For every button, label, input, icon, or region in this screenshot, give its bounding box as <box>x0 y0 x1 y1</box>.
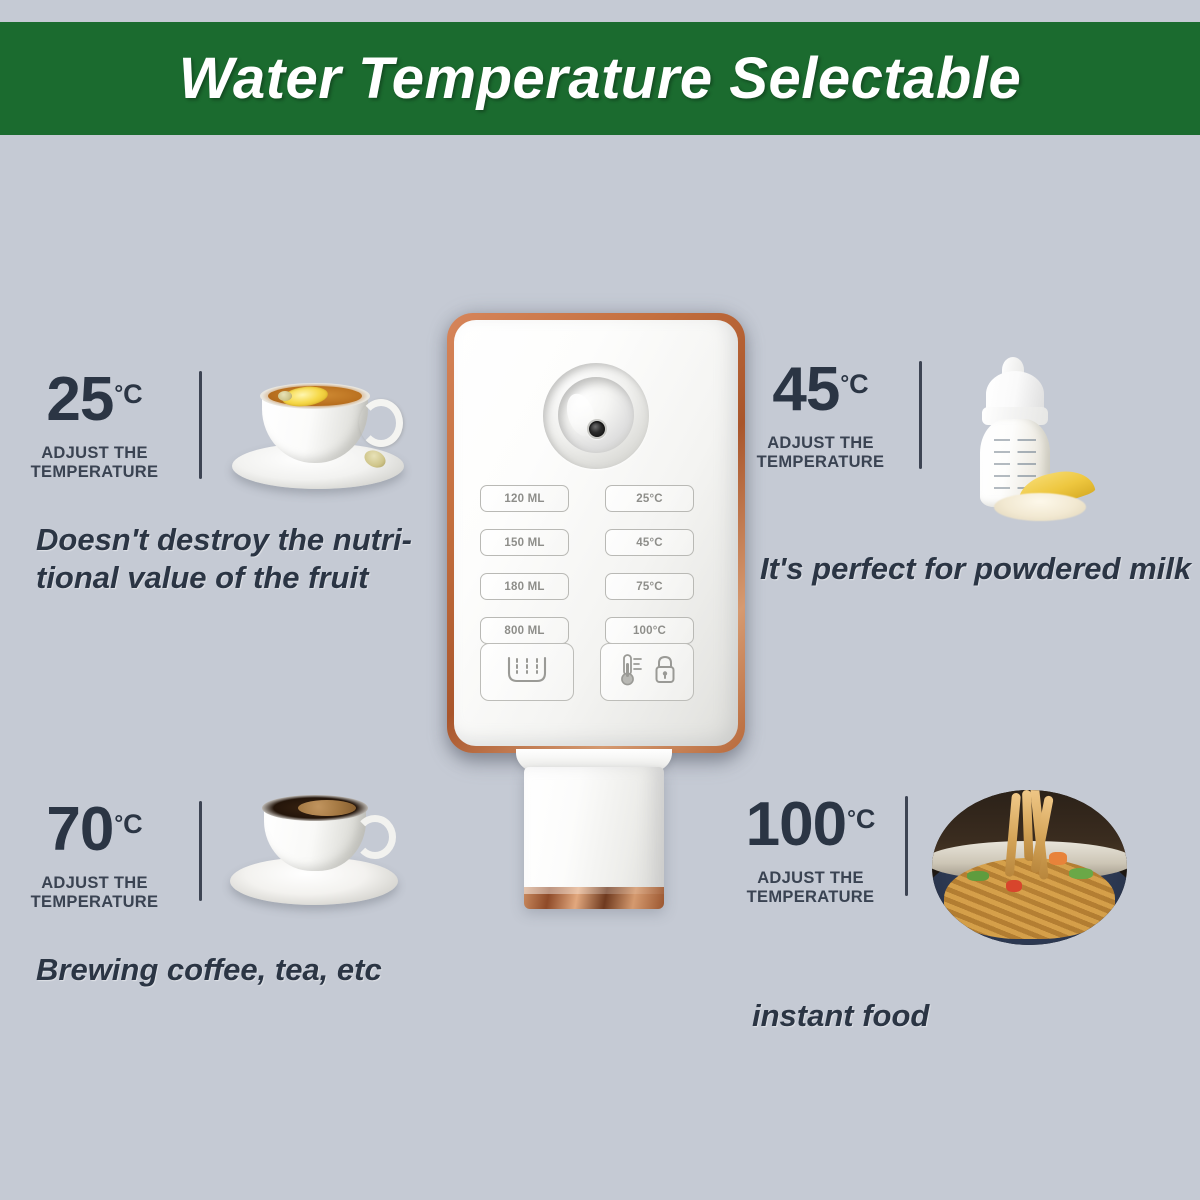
temperature-column: 25°C ADJUST THE TEMPERATURE <box>22 365 167 483</box>
feature-caption: It's perfect for powdered milk <box>760 550 1200 588</box>
temperature-unit: °C <box>840 369 868 399</box>
water-dispenser-control-panel: 120 ML 25°C 150 ML 45°C 180 ML 75°C 800 … <box>440 305 750 925</box>
temperature-button-25c[interactable]: 25°C <box>605 485 694 512</box>
temperature-value: 45°C <box>748 361 893 420</box>
temperature-number: 45 <box>772 355 839 424</box>
funnel-inner-cone <box>558 377 634 453</box>
teacup-with-lemon-photo <box>226 365 416 495</box>
chili-shape <box>1006 880 1022 892</box>
dried-flower-shape <box>278 391 292 401</box>
adjust-temperature-label: ADJUST THE TEMPERATURE <box>22 444 167 483</box>
volume-button-150ml[interactable]: 150 ML <box>480 529 569 556</box>
temperature-column: 100°C ADJUST THE TEMPERATURE <box>738 790 883 908</box>
vertical-divider <box>905 796 908 896</box>
thermometer-icon <box>618 653 644 692</box>
lock-icon <box>653 654 677 691</box>
adjust-temperature-label: ADJUST THE TEMPERATURE <box>738 869 883 908</box>
temperature-unit: °C <box>847 804 875 834</box>
feature-row: 100°C ADJUST THE TEMPERATURE <box>738 790 1200 945</box>
water-outlet-spout <box>524 767 664 907</box>
vertical-divider <box>199 371 202 479</box>
volume-button-120ml[interactable]: 120 ML <box>480 485 569 512</box>
volume-button-800ml[interactable]: 800 ML <box>480 617 569 644</box>
temperature-number: 25 <box>46 365 113 434</box>
adjust-temperature-label: ADJUST THE TEMPERATURE <box>748 434 893 473</box>
page-title: Water Temperature Selectable <box>179 45 1021 112</box>
water-inlet-funnel <box>543 363 649 469</box>
feature-row: 45°C ADJUST THE TEMPERATURE <box>748 355 1200 530</box>
feature-block-45c: 45°C ADJUST THE TEMPERATURE It's perfect… <box>748 355 1200 588</box>
water-nozzle-hole <box>587 419 607 439</box>
instant-noodles-bowl-photo <box>932 790 1127 945</box>
temperature-value: 70°C <box>22 801 167 860</box>
crema-foam-shape <box>298 800 356 816</box>
carrot-shape <box>1049 852 1067 865</box>
vegetable-shape <box>967 871 989 881</box>
cup-handle-shape <box>354 815 396 859</box>
cup-button[interactable] <box>480 643 574 701</box>
temperature-button-100c[interactable]: 100°C <box>605 617 694 644</box>
vertical-divider <box>919 361 922 469</box>
baby-bottle-powdered-milk-photo <box>946 355 1096 530</box>
milk-powder-shape <box>994 493 1086 521</box>
temperature-button-45c[interactable]: 45°C <box>605 529 694 556</box>
coffee-cup-photo <box>226 795 406 915</box>
adjust-temperature-label: ADJUST THE TEMPERATURE <box>22 874 167 913</box>
temperature-number: 70 <box>46 795 113 864</box>
feature-caption: instant food <box>752 997 1200 1035</box>
cup-handle-shape <box>359 399 403 447</box>
temperature-unit: °C <box>114 379 142 409</box>
spout-rose-gold-ring <box>524 887 664 909</box>
cup-outline-icon <box>505 655 549 690</box>
function-button-row <box>480 643 694 701</box>
feature-caption: Brewing coffee, tea, etc <box>36 951 582 989</box>
control-button-grid: 120 ML 25°C 150 ML 45°C 180 ML 75°C 800 … <box>480 485 694 644</box>
vertical-divider <box>199 801 202 901</box>
temperature-unit: °C <box>114 809 142 839</box>
volume-button-180ml[interactable]: 180 ML <box>480 573 569 600</box>
header-banner: Water Temperature Selectable <box>0 22 1200 135</box>
temperature-value: 100°C <box>738 796 883 855</box>
temperature-value: 25°C <box>22 371 167 430</box>
temperature-number: 100 <box>746 790 846 859</box>
temperature-button-75c[interactable]: 75°C <box>605 573 694 600</box>
vegetable-shape <box>1069 868 1093 879</box>
temp-lock-button[interactable] <box>600 643 694 701</box>
temperature-column: 70°C ADJUST THE TEMPERATURE <box>22 795 167 913</box>
temperature-column: 45°C ADJUST THE TEMPERATURE <box>748 355 893 473</box>
feature-block-100c: 100°C ADJUST THE TEMPERATURE instant foo… <box>738 790 1200 1035</box>
